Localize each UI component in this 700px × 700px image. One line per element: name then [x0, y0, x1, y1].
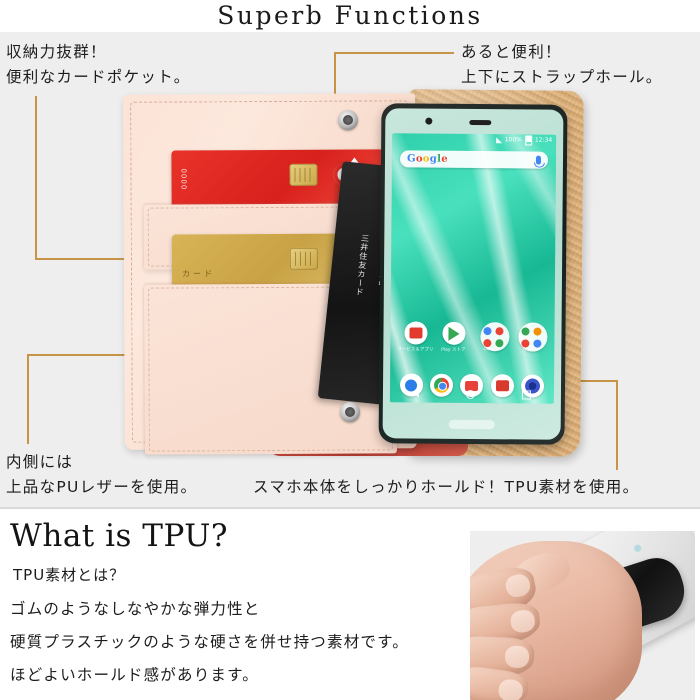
fingernail — [510, 609, 536, 633]
infographic-page: Superb Functions 収納力抜群！ 便利なカードポケット。 あると便… — [0, 0, 700, 700]
home-key[interactable] — [449, 420, 495, 429]
android-navigation-bar — [390, 386, 554, 401]
credit-card-red-number: 0000 — [179, 168, 187, 190]
leader-line-leather-vertical — [27, 354, 29, 444]
callout-tpu-hold-line1: スマホ本体をしっかりホールド！TPU素材を使用。 — [253, 475, 639, 500]
callout-card-pocket-line1: 収納力抜群！ — [6, 40, 191, 65]
signal-icon — [496, 137, 502, 143]
leader-line-tpu-vertical — [616, 380, 618, 470]
fingernail — [497, 678, 524, 700]
google-logo: Google — [407, 153, 448, 164]
tpu-body-line-3: ほどよいホールド感があります。 — [10, 663, 259, 685]
play-store-icon[interactable] — [442, 322, 465, 345]
smartphone: 100% 12:34 Google サービス＆アプリ — [379, 103, 568, 445]
app-item[interactable]: ツール — [518, 322, 541, 351]
callout-strap-hole: あると便利！ 上下にストラップホール。 — [461, 40, 663, 90]
app-item[interactable]: サービス＆アプリ — [404, 321, 427, 350]
clock-label: 12:34 — [535, 137, 552, 144]
app-label: Play ストア — [441, 347, 465, 353]
tpu-subheading: TPU素材とは？ — [13, 564, 125, 585]
tpu-body-line-2: 硬質プラスチックのような硬さを併せ持つ素材です。 — [10, 630, 409, 652]
phone-top-bar — [385, 108, 563, 134]
credit-card-gold-text: カード — [182, 268, 215, 279]
callout-strap-hole-line1: あると便利！ — [461, 40, 663, 65]
red-app-icon[interactable] — [404, 321, 427, 344]
phone-status-bar: 100% 12:34 — [392, 133, 556, 145]
product-photo-wallet-case: 0000 CARD カード 00 00 Business Card 三井住友カー… — [118, 86, 584, 458]
home-icon[interactable] — [466, 389, 475, 398]
hand — [470, 541, 642, 700]
app-row-1: サービス＆アプリ Play ストア Google — [396, 321, 548, 351]
leader-line-card-pocket-vertical — [35, 96, 37, 260]
callout-pu-leather-line2: 上品なPUレザーを使用。 — [6, 475, 197, 500]
phone-front-bezel: 100% 12:34 Google サービス＆アプリ — [383, 108, 564, 440]
app-item[interactable]: Play ストア — [442, 322, 465, 351]
credit-card-gold-chip-icon — [290, 248, 318, 270]
back-icon[interactable] — [413, 389, 419, 397]
leader-line-strap-horizontal — [334, 52, 454, 54]
tpu-body-line-1: ゴムのようなしなやかな弾力性と — [10, 597, 261, 619]
callout-card-pocket: 収納力抜群！ 便利なカードポケット。 — [6, 40, 191, 90]
battery-percent-label: 100% — [505, 136, 522, 143]
fingernail — [505, 645, 530, 668]
app-item[interactable]: Google — [480, 322, 503, 351]
page-title: Superb Functions — [0, 1, 700, 30]
tpu-demo-photo — [470, 531, 695, 700]
business-card-label-jp: 三井住友カード — [354, 233, 372, 297]
strap-hole-grommet-bottom-icon — [340, 402, 360, 422]
app-label: ツール — [523, 347, 537, 353]
credit-card-chip-icon — [289, 164, 317, 186]
phone-screen: 100% 12:34 Google サービス＆アプリ — [390, 133, 556, 403]
fingernail — [504, 572, 532, 599]
recent-apps-icon[interactable] — [522, 390, 531, 399]
strap-hole-grommet-top-icon — [338, 110, 358, 130]
battery-icon — [525, 135, 532, 145]
tpu-heading: What is TPU? — [10, 518, 228, 554]
callout-tpu-hold: スマホ本体をしっかりホールド！TPU素材を使用。 — [253, 475, 639, 500]
google-search-bar[interactable]: Google — [400, 150, 548, 168]
earpiece-speaker-icon — [469, 120, 491, 125]
app-label: Google — [483, 347, 499, 352]
microphone-icon[interactable] — [536, 156, 541, 165]
wallpaper-graphic — [390, 133, 556, 403]
app-label: サービス＆アプリ — [397, 346, 433, 352]
front-camera-icon — [425, 118, 432, 125]
phone-bottom-bezel — [383, 406, 561, 436]
